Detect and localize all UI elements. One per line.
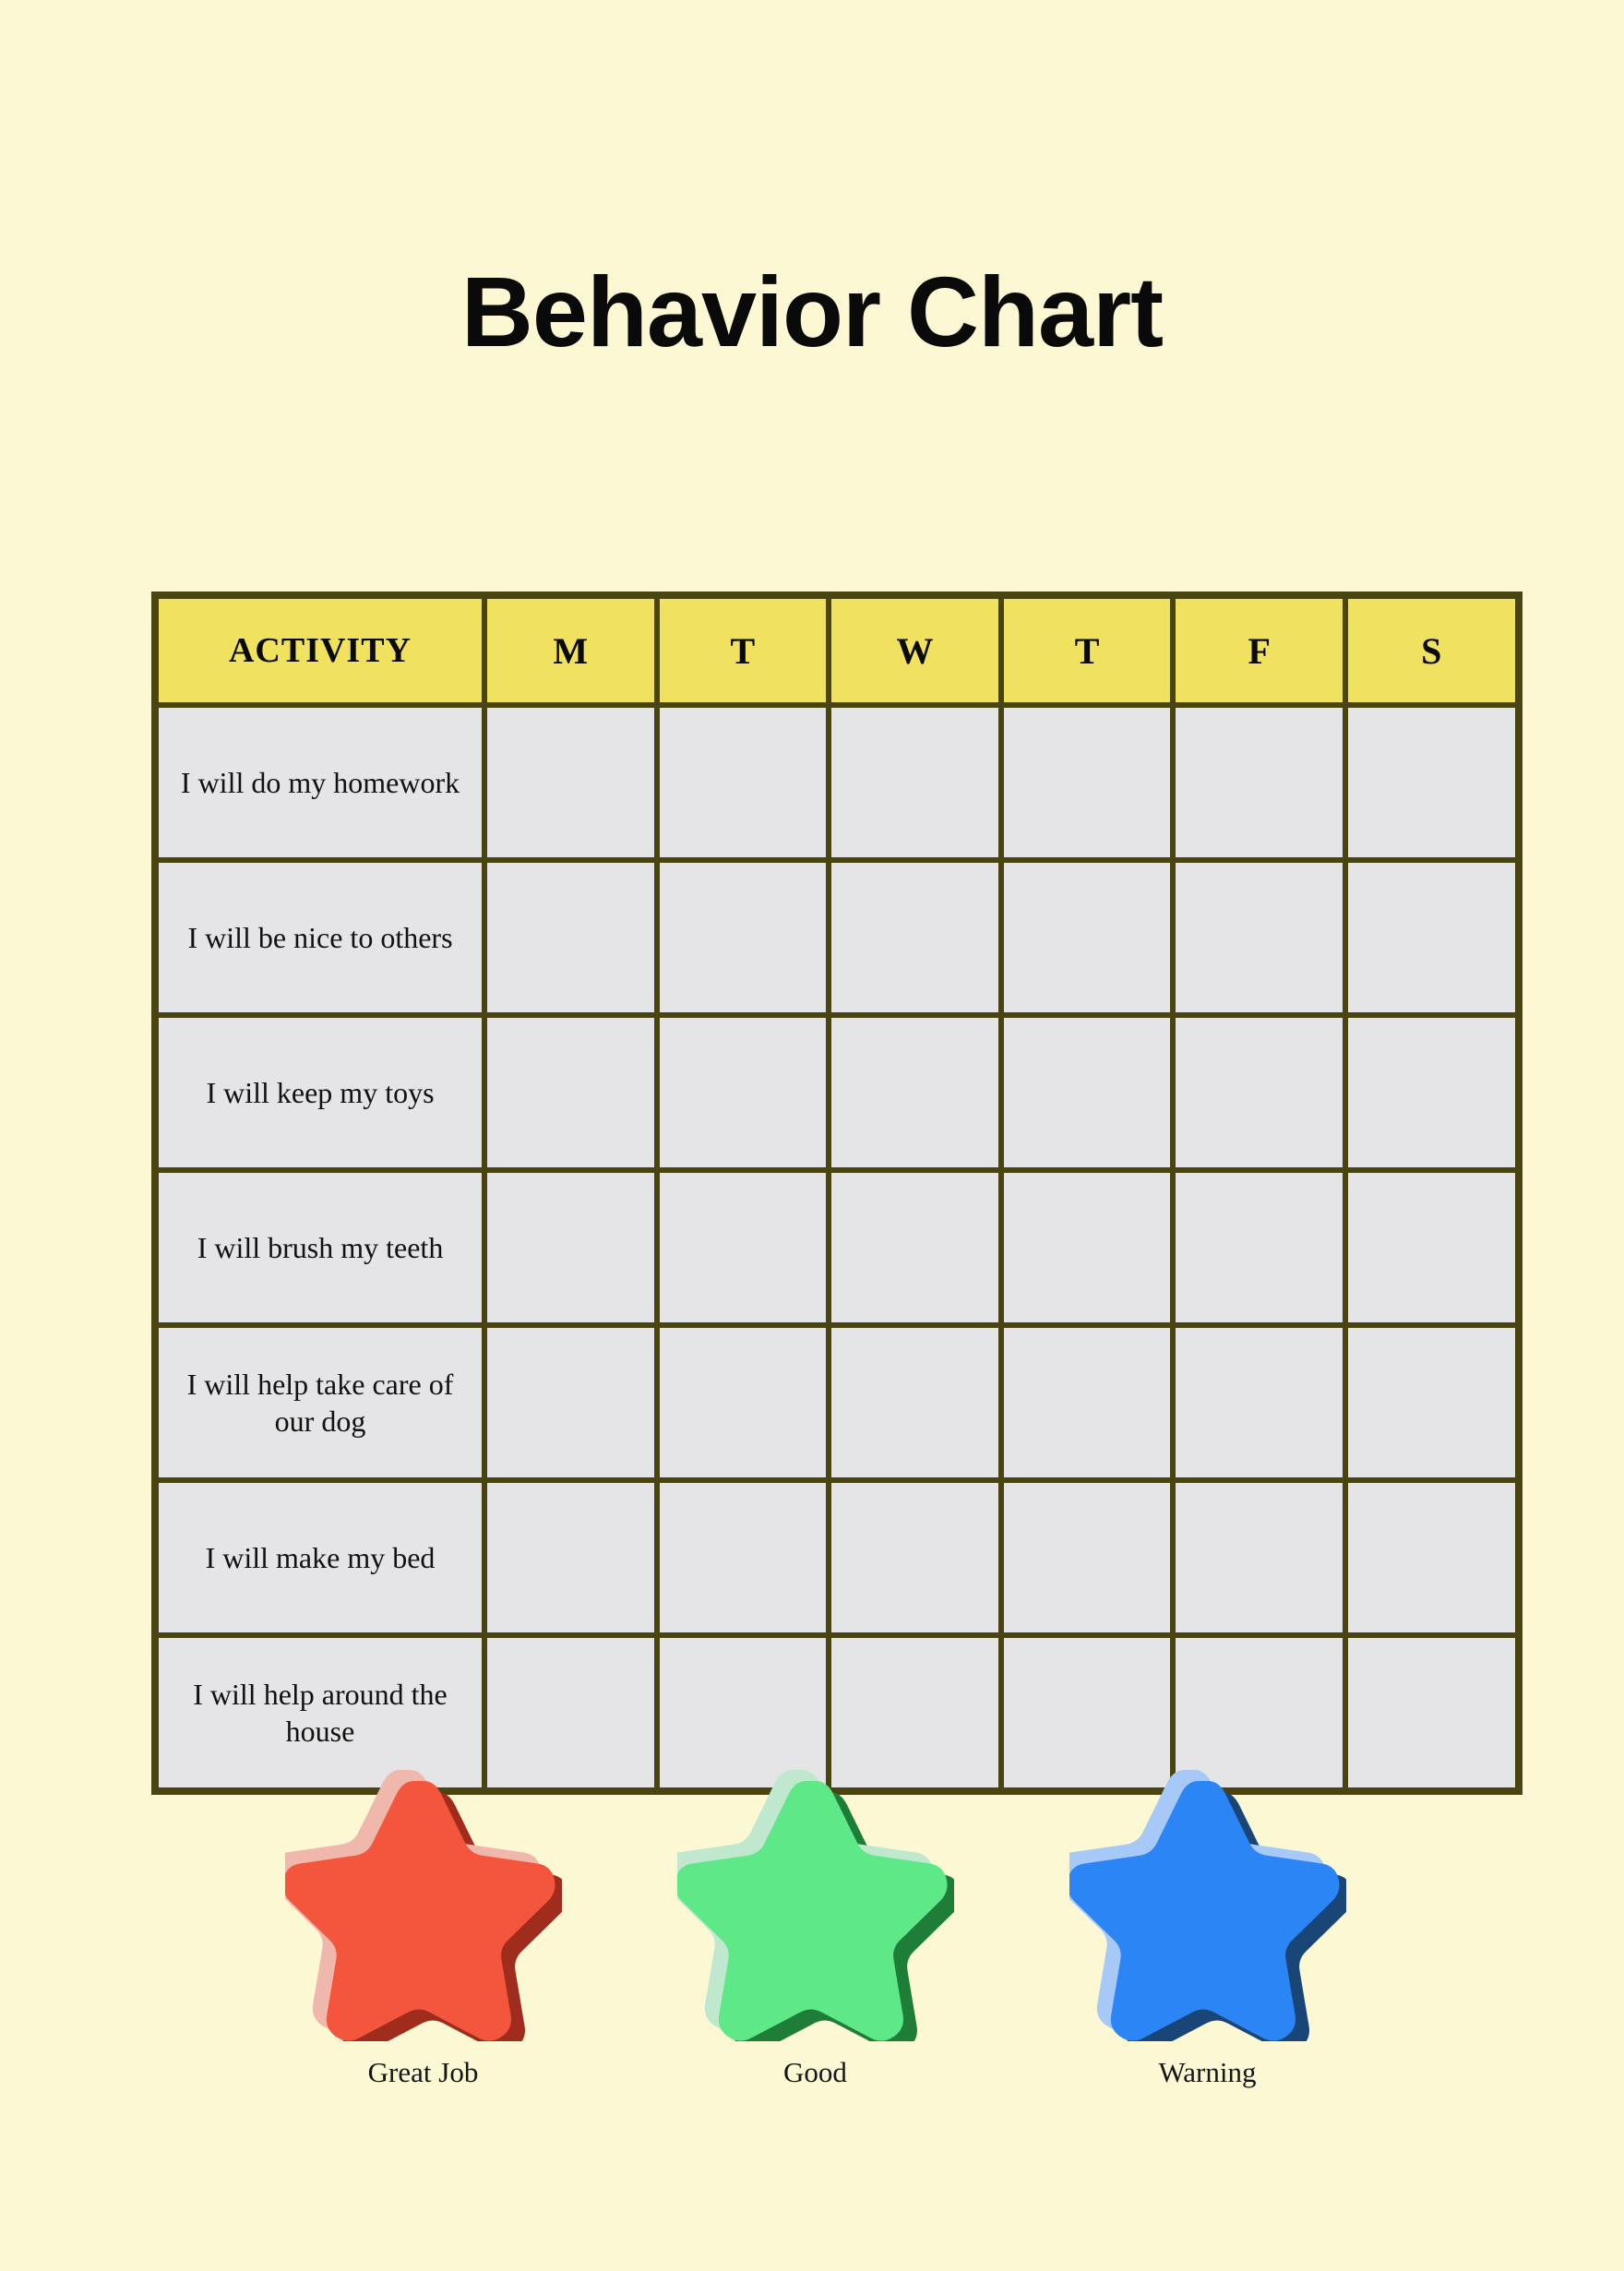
mark-cell-sat[interactable] [1345, 1170, 1518, 1325]
mark-cell-sat[interactable] [1345, 1325, 1518, 1480]
mark-cell-mon[interactable] [484, 705, 657, 860]
mark-cell-thu[interactable] [1001, 860, 1174, 1015]
mark-cell-wed[interactable] [829, 1480, 1001, 1635]
star-icon [1069, 1764, 1346, 2041]
table-row: I will be nice to others [156, 860, 1518, 1015]
star-icon-great-job [285, 1764, 562, 2041]
table-row: I will make my bed [156, 1480, 1518, 1635]
mark-cell-wed[interactable] [829, 1015, 1001, 1170]
behavior-chart-page: Behavior Chart ACTIVITY M T W T F S I wi… [0, 0, 1624, 2271]
table-row: I will brush my teeth [156, 1170, 1518, 1325]
column-header-tuesday: T [657, 596, 830, 705]
mark-cell-tue[interactable] [657, 1325, 830, 1480]
mark-cell-fri[interactable] [1173, 1170, 1345, 1325]
table-header-row: ACTIVITY M T W T F S [156, 596, 1518, 705]
mark-cell-tue[interactable] [657, 1480, 830, 1635]
mark-cell-mon[interactable] [484, 1325, 657, 1480]
column-header-activity: ACTIVITY [156, 596, 484, 705]
mark-cell-wed[interactable] [829, 1325, 1001, 1480]
mark-cell-sat[interactable] [1345, 705, 1518, 860]
legend-item-warning: Warning [1011, 1764, 1403, 2089]
mark-cell-fri[interactable] [1173, 860, 1345, 1015]
star-icon-good [677, 1764, 954, 2041]
mark-cell-sat[interactable] [1345, 860, 1518, 1015]
mark-cell-fri[interactable] [1173, 1325, 1345, 1480]
mark-cell-thu[interactable] [1001, 705, 1174, 860]
behavior-chart-table: ACTIVITY M T W T F S I will do my homewo… [151, 592, 1522, 1795]
column-header-friday: F [1173, 596, 1345, 705]
activity-label: I will brush my teeth [156, 1170, 484, 1325]
mark-cell-thu[interactable] [1001, 1325, 1174, 1480]
legend-label-warning: Warning [1159, 2056, 1257, 2089]
table-row: I will keep my toys [156, 1015, 1518, 1170]
mark-cell-fri[interactable] [1173, 1015, 1345, 1170]
star-icon-warning [1069, 1764, 1346, 2041]
column-header-monday: M [484, 596, 657, 705]
mark-cell-tue[interactable] [657, 860, 830, 1015]
mark-cell-mon[interactable] [484, 860, 657, 1015]
mark-cell-tue[interactable] [657, 705, 830, 860]
legend-label-great-job: Great Job [368, 2056, 479, 2089]
activity-label: I will help take care of our dog [156, 1325, 484, 1480]
activity-label: I will do my homework [156, 705, 484, 860]
activity-label: I will keep my toys [156, 1015, 484, 1170]
mark-cell-wed[interactable] [829, 860, 1001, 1015]
mark-cell-thu[interactable] [1001, 1015, 1174, 1170]
mark-cell-sat[interactable] [1345, 1480, 1518, 1635]
mark-cell-mon[interactable] [484, 1480, 657, 1635]
legend-item-great-job: Great Job [227, 1764, 619, 2089]
mark-cell-fri[interactable] [1173, 1480, 1345, 1635]
mark-cell-wed[interactable] [829, 705, 1001, 860]
table-row: I will do my homework [156, 705, 1518, 860]
mark-cell-sat[interactable] [1345, 1015, 1518, 1170]
legend-item-good: Good [619, 1764, 1011, 2089]
legend: Great Job Good Warning [151, 1764, 1475, 2089]
column-header-wednesday: W [829, 596, 1001, 705]
mark-cell-mon[interactable] [484, 1015, 657, 1170]
mark-cell-tue[interactable] [657, 1170, 830, 1325]
mark-cell-thu[interactable] [1001, 1480, 1174, 1635]
activity-label: I will make my bed [156, 1480, 484, 1635]
mark-cell-tue[interactable] [657, 1015, 830, 1170]
star-icon [285, 1764, 562, 2041]
mark-cell-fri[interactable] [1173, 705, 1345, 860]
mark-cell-wed[interactable] [829, 1170, 1001, 1325]
column-header-thursday: T [1001, 596, 1174, 705]
table-row: I will help take care of our dog [156, 1325, 1518, 1480]
star-icon [677, 1764, 954, 2041]
page-title: Behavior Chart [0, 262, 1624, 362]
legend-label-good: Good [783, 2056, 847, 2089]
mark-cell-thu[interactable] [1001, 1170, 1174, 1325]
column-header-saturday: S [1345, 596, 1518, 705]
mark-cell-mon[interactable] [484, 1170, 657, 1325]
activity-label: I will be nice to others [156, 860, 484, 1015]
